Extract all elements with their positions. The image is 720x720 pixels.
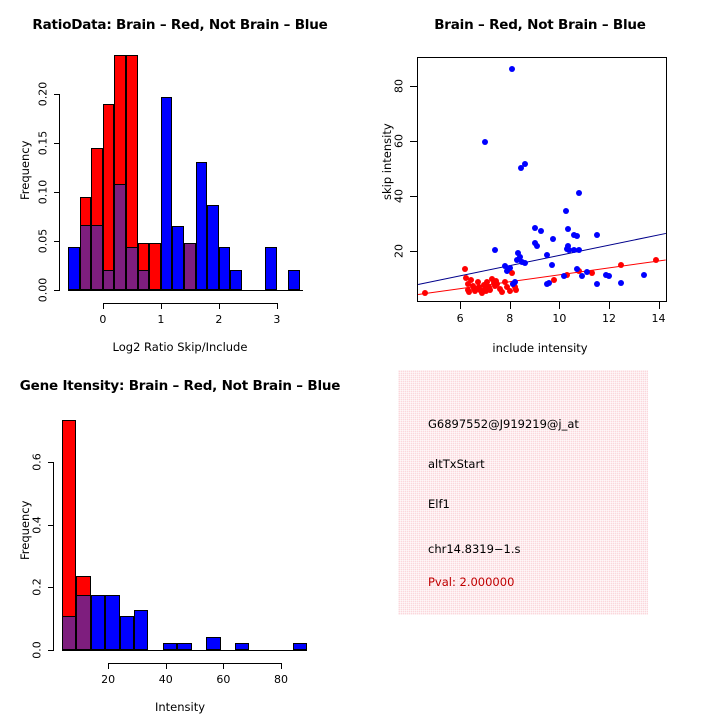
y-axis-tick [410,141,417,142]
y-axis-tick-label: 0.15 [37,131,50,156]
histogram-bar [235,643,249,650]
histogram-bar [80,225,92,290]
annotation-box: G6897552@J919219@j_at altTxStart Elf1 ch… [398,370,648,615]
scatter-axes: 2040608068101214 [360,0,720,360]
x-axis-tick [510,302,511,309]
y-axis-tick-label: 20 [393,244,406,258]
x-axis-tick-label: 3 [273,313,280,326]
histogram-bar [172,226,184,290]
y-axis-tick [54,241,60,242]
x-axis-tick [559,302,560,309]
histogram-bar [184,243,196,290]
figure-canvas: RatioData: Brain – Red, Not Brain – Blue… [0,0,720,720]
annotation-event-type: altTxStart [428,457,485,471]
histogram-bar [196,162,208,290]
x-axis-tick-rule [103,303,277,304]
x-axis-tick [609,302,610,309]
y-axis-tick [410,86,417,87]
x-axis-tick-label: 6 [457,312,464,325]
histogram-bar [288,270,300,290]
y-axis-tick [48,462,54,463]
histogram-bar [206,637,220,650]
y-axis-tick-label: 0.6 [31,453,44,471]
histogram-bar [91,595,105,650]
ratio-histogram-title: RatioData: Brain – Red, Not Brain – Blue [0,17,360,33]
histogram-bar [62,616,76,650]
histogram-bar [230,270,242,290]
y-axis-tick-label: 0.05 [37,229,50,254]
y-axis-tick-label: 60 [393,134,406,148]
ratio-histogram-x-axis-label: Log2 Ratio Skip/Include [0,340,360,354]
y-axis-tick [410,251,417,252]
histogram-bar [120,616,134,650]
ratio-histogram-y-axis-label: Frequency [18,141,32,200]
x-axis-tick-rule [108,663,281,664]
y-axis-tick [54,143,60,144]
y-axis-tick-label: 0.2 [31,579,44,597]
ratio-histogram-plot-area: 0.000.050.100.150.200123 [68,55,303,290]
x-axis-tick-label: 1 [157,313,164,326]
histogram-bar [68,247,80,290]
y-axis-tick [48,587,54,588]
histogram-bar [138,270,150,290]
y-axis-tick [410,196,417,197]
y-axis-tick-label: 0.10 [37,180,50,205]
histogram-bar [134,610,148,650]
panel-scatter: Brain – Red, Not Brain – Blue skip inten… [360,0,720,360]
x-axis-tick-label: 10 [552,312,566,325]
y-axis-line [53,462,54,650]
x-axis-tick [659,302,660,309]
histogram-bar [105,595,119,650]
panel-annotation: G6897552@J919219@j_at altTxStart Elf1 ch… [360,360,720,720]
gene-histogram-plot-area: 0.00.20.40.620406080 [62,418,307,650]
annotation-coordinate: chr14.8319−1.s [428,542,521,556]
histogram-bar [219,247,231,290]
y-axis-tick-label: 0.20 [37,82,50,107]
panel-ratio-histogram: RatioData: Brain – Red, Not Brain – Blue… [0,0,360,360]
histogram-bar [163,643,177,650]
gene-histogram-title: Gene Itensity: Brain – Red, Not Brain – … [0,378,360,394]
x-axis-tick-label: 8 [506,312,513,325]
x-axis-tick-label: 40 [159,673,173,686]
x-axis-tick-label: 14 [652,312,666,325]
y-axis-tick [54,290,60,291]
y-axis-tick [48,525,54,526]
histogram-bar [161,97,173,290]
histogram-bar [177,643,191,650]
histogram-bar [103,270,115,290]
x-axis-line [68,290,303,291]
histogram-bar [76,595,90,650]
y-axis-tick [54,94,60,95]
histogram-bar [91,225,103,290]
x-axis-tick [223,663,224,669]
x-axis-tick-label: 60 [216,673,230,686]
x-axis-tick [460,302,461,309]
annotation-pval: Pval: 2.000000 [428,575,514,589]
x-axis-tick-label: 20 [101,673,115,686]
x-axis-tick [281,663,282,669]
y-axis-tick-label: 80 [393,79,406,93]
x-axis-tick [103,303,104,309]
panel-gene-histogram: Gene Itensity: Brain – Red, Not Brain – … [0,360,360,720]
x-axis-tick-label: 0 [99,313,106,326]
histogram-bar [207,205,219,290]
histogram-bar [293,643,307,650]
y-axis-tick [54,192,60,193]
y-axis-tick-label: 0.0 [31,641,44,659]
histogram-bar [265,247,277,290]
y-axis-tick [48,650,54,651]
y-axis-tick-label: 0.4 [31,516,44,534]
x-axis-tick [108,663,109,669]
x-axis-tick-label: 80 [274,673,288,686]
histogram-bar [149,243,161,290]
x-axis-tick [277,303,278,309]
x-axis-tick [161,303,162,309]
histogram-bar [114,184,126,290]
histogram-bar [103,104,115,290]
x-axis-tick-label: 12 [602,312,616,325]
histogram-bar [126,247,138,290]
x-axis-line [62,650,307,651]
annotation-probe-id: G6897552@J919219@j_at [428,417,579,431]
gene-histogram-x-axis-label: Intensity [0,700,360,714]
y-axis-tick-label: 0.00 [37,278,50,303]
x-axis-tick [219,303,220,309]
y-axis-tick-label: 40 [393,189,406,203]
x-axis-tick-label: 2 [215,313,222,326]
annotation-gene-symbol: Elf1 [428,497,450,511]
x-axis-tick [166,663,167,669]
